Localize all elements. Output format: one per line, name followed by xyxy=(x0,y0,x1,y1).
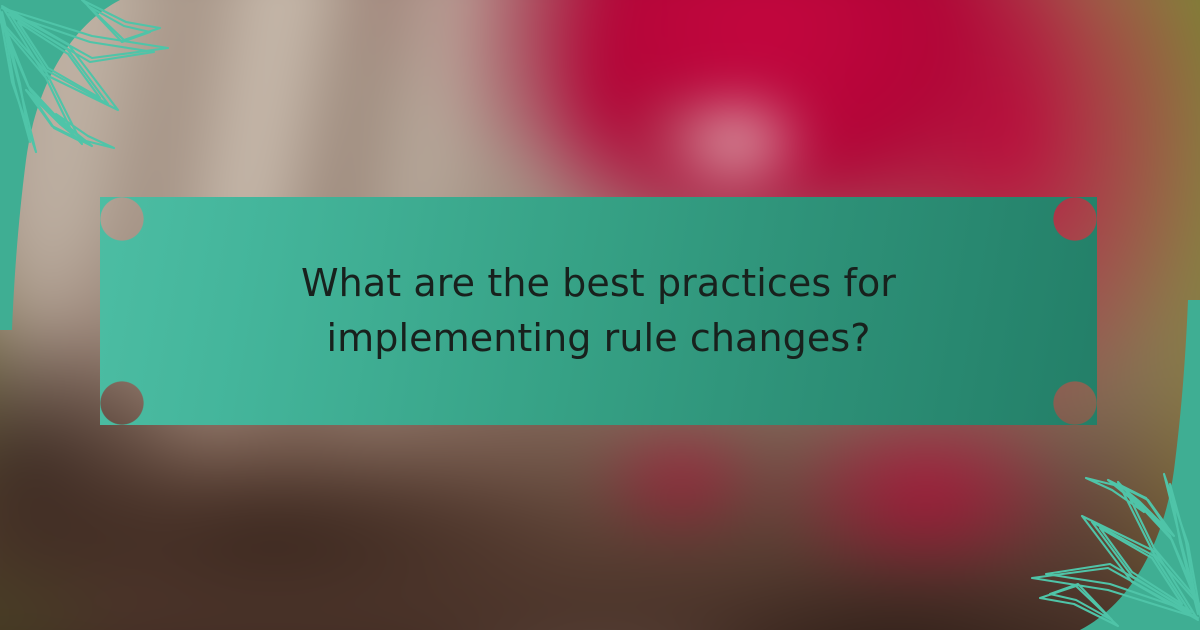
top-left-starburst-ornament xyxy=(0,0,171,158)
quote-card: What are the best practices for implemen… xyxy=(0,0,1200,630)
headline-banner: What are the best practices for implemen… xyxy=(100,197,1097,425)
headline-text: What are the best practices for implemen… xyxy=(169,256,1029,366)
bottom-right-starburst-ornament xyxy=(1029,472,1200,630)
